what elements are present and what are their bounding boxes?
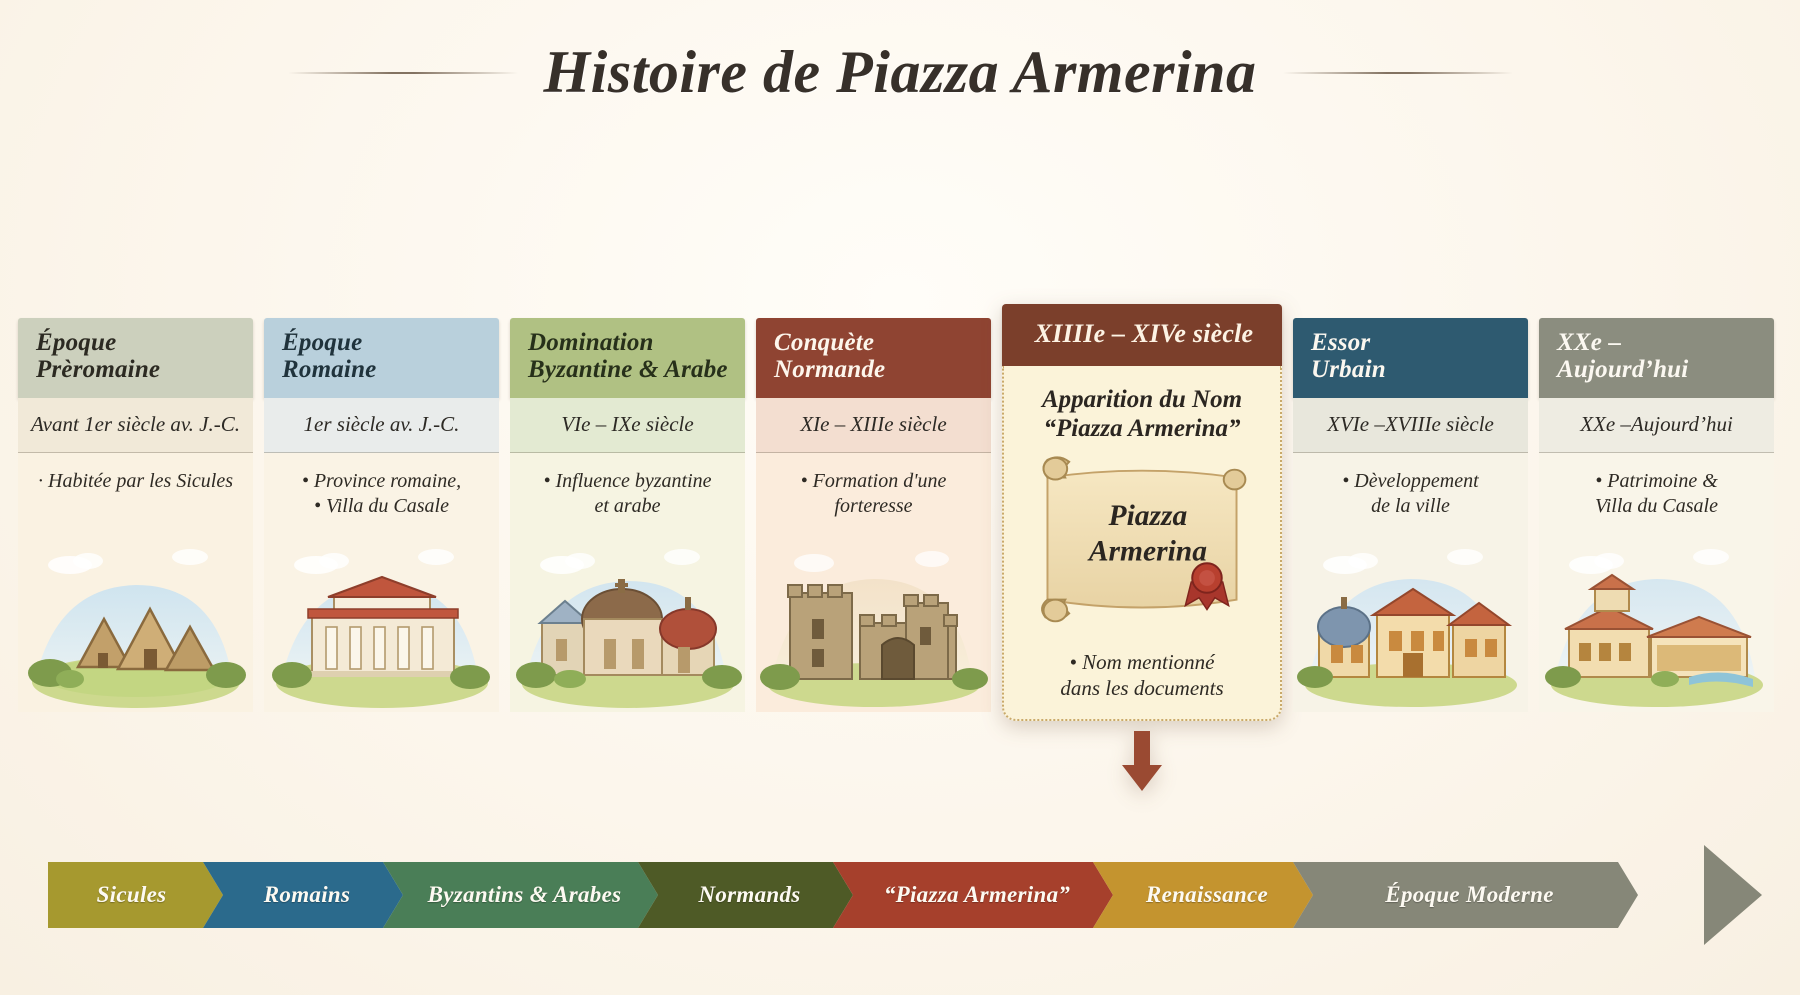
timeline-segment-label: Renaissance: [1146, 882, 1268, 908]
card-title-line2: Urbain: [1311, 357, 1386, 384]
bullet-item: • Villa du Casale: [276, 494, 487, 519]
card-title: ÉpoqueRomaine: [282, 330, 376, 384]
card-period: XIe – XIIIe siècle: [756, 398, 991, 453]
card-title-line2: Romaine: [282, 357, 376, 384]
highlight-heading-line1: Apparition du Nom: [1018, 386, 1266, 415]
svg-text:Armerina: Armerina: [1087, 535, 1207, 567]
era-timeline-bar: SiculesRomainsByzantins & ArabesNormands…: [48, 862, 1758, 928]
timeline-segment[interactable]: “Piazza Armerina”: [833, 862, 1113, 928]
card-period: VIe – IXe siècle: [510, 398, 745, 453]
bullet-item: · Habitée par les Sicules: [30, 469, 241, 494]
timeline-segment-label: Sicules: [97, 882, 167, 908]
bullet-item: • Province romaine,: [276, 469, 487, 494]
era-card[interactable]: ÉpoquePrèromaineAvant 1er siècle av. J.-…: [18, 318, 253, 712]
timeline-segment-label: Époque Moderne: [1385, 882, 1553, 908]
era-card[interactable]: XXe –Aujourd’huiXXe –Aujourd’hui• Patrim…: [1539, 318, 1774, 712]
roman-villa-icon: [264, 527, 499, 712]
timeline-segment[interactable]: Normands: [638, 862, 853, 928]
card-title-line1: XXe –: [1557, 330, 1688, 357]
card-title-line1: Époque: [282, 330, 376, 357]
infographic-canvas: Histoire de Piazza Armerina ÉpoquePrèrom…: [0, 0, 1800, 995]
sicule-huts-icon: [18, 527, 253, 712]
era-card[interactable]: EssorUrbainXVIe –XVIIIe siècle• Dèvelopp…: [1293, 318, 1528, 712]
card-header: XXe –Aujourd’hui: [1539, 318, 1774, 398]
card-title-line2: Prèromaine: [36, 357, 160, 384]
card-title-line1: Domination: [528, 330, 728, 357]
bullet-item: • Dèveloppement: [1305, 469, 1516, 494]
card-header: DominationByzantine & Arabe: [510, 318, 745, 398]
timeline-segment-label: Normands: [698, 882, 800, 908]
timeline-segment[interactable]: Byzantins & Arabes: [383, 862, 658, 928]
era-card-highlight[interactable]: XIIIIe – XIVe siècleApparition du Nom“Pi…: [1002, 304, 1282, 721]
card-bullets: • Province romaine,• Villa du Casale: [264, 453, 499, 527]
bullet-item: dans les documents: [1020, 675, 1264, 701]
baroque-city-icon: [1293, 527, 1528, 712]
down-arrow-icon: [1121, 731, 1163, 793]
card-title: DominationByzantine & Arabe: [528, 330, 728, 384]
card-period: XVIe –XVIIIe siècle: [1293, 398, 1528, 453]
timeline-segment-label: Romains: [264, 882, 350, 908]
card-period: Avant 1er siècle av. J.-C.: [18, 398, 253, 453]
card-title-line1: Essor: [1311, 330, 1386, 357]
timeline-arrow-tip-icon: [1704, 845, 1762, 945]
card-header: ÉpoqueRomaine: [264, 318, 499, 398]
card-period: XXe –Aujourd’hui: [1539, 398, 1774, 453]
card-title-line1: Conquète: [774, 330, 885, 357]
byzantine-church-icon: [510, 527, 745, 712]
page-title: Histoire de Piazza Armerina: [544, 38, 1257, 107]
timeline-segment-label: Byzantins & Arabes: [428, 882, 622, 908]
card-title: ConquèteNormande: [774, 330, 885, 384]
scroll-with-seal-icon: PiazzaArmerina: [1014, 450, 1270, 645]
norman-fortress-icon: [756, 527, 991, 712]
timeline-segment[interactable]: Romains: [203, 862, 403, 928]
card-title: EssorUrbain: [1311, 330, 1386, 384]
bullet-item: • Patrimoine &: [1551, 469, 1762, 494]
bullet-item: • Nom mentionné: [1020, 649, 1264, 675]
card-bullets: • Formation d'uneforteresse: [756, 453, 991, 527]
card-bullets: • Patrimoine &Villa du Casale: [1539, 453, 1774, 527]
card-title: XIIIIe – XIVe siècle: [1035, 320, 1254, 348]
card-title-line2: Normande: [774, 357, 885, 384]
card-bullets: • Influence byzantineet arabe: [510, 453, 745, 527]
title-rule-left: [288, 72, 518, 74]
card-header: ConquèteNormande: [756, 318, 991, 398]
era-card[interactable]: DominationByzantine & ArabeVIe – IXe siè…: [510, 318, 745, 712]
title-rule-right: [1283, 72, 1513, 74]
card-title-line1: Époque: [36, 330, 160, 357]
svg-text:Piazza: Piazza: [1108, 499, 1188, 531]
card-title-line2: Aujourd’hui: [1557, 357, 1688, 384]
card-header: ÉpoquePrèromaine: [18, 318, 253, 398]
timeline-segment[interactable]: Sicules: [48, 862, 223, 928]
highlight-heading: Apparition du Nom“Piazza Armerina”: [1014, 376, 1270, 450]
card-title-line2: Byzantine & Arabe: [528, 357, 728, 384]
card-bullets: • Nom mentionnédans les documents: [1014, 645, 1270, 704]
card-period: 1er siècle av. J.-C.: [264, 398, 499, 453]
card-bullets: · Habitée par les Sicules: [18, 453, 253, 527]
modern-heritage-icon: [1539, 527, 1774, 712]
bullet-item: et arabe: [522, 494, 733, 519]
era-card[interactable]: ConquèteNormandeXIe – XIIIe siècle• Form…: [756, 318, 991, 712]
card-bullets: • Dèveloppementde la ville: [1293, 453, 1528, 527]
card-title: ÉpoquePrèromaine: [36, 330, 160, 384]
highlight-panel: Apparition du Nom“Piazza Armerina”Piazza…: [1002, 366, 1282, 721]
timeline-segment-label: “Piazza Armerina”: [884, 882, 1070, 908]
timeline-cards: ÉpoquePrèromaineAvant 1er siècle av. J.-…: [18, 318, 1784, 788]
card-title: XXe –Aujourd’hui: [1557, 330, 1688, 384]
bullet-item: forteresse: [768, 494, 979, 519]
timeline-segment[interactable]: Époque Moderne: [1293, 862, 1638, 928]
card-header: XIIIIe – XIVe siècle: [1002, 304, 1282, 366]
highlight-heading-line2: “Piazza Armerina”: [1018, 415, 1266, 444]
bullet-item: Villa du Casale: [1551, 494, 1762, 519]
bullet-item: • Influence byzantine: [522, 469, 733, 494]
bullet-item: de la ville: [1305, 494, 1516, 519]
bullet-item: • Formation d'une: [768, 469, 979, 494]
title-row: Histoire de Piazza Armerina: [0, 38, 1800, 107]
era-card[interactable]: ÉpoqueRomaine1er siècle av. J.-C.• Provi…: [264, 318, 499, 712]
card-header: EssorUrbain: [1293, 318, 1528, 398]
timeline-segment[interactable]: Renaissance: [1093, 862, 1313, 928]
